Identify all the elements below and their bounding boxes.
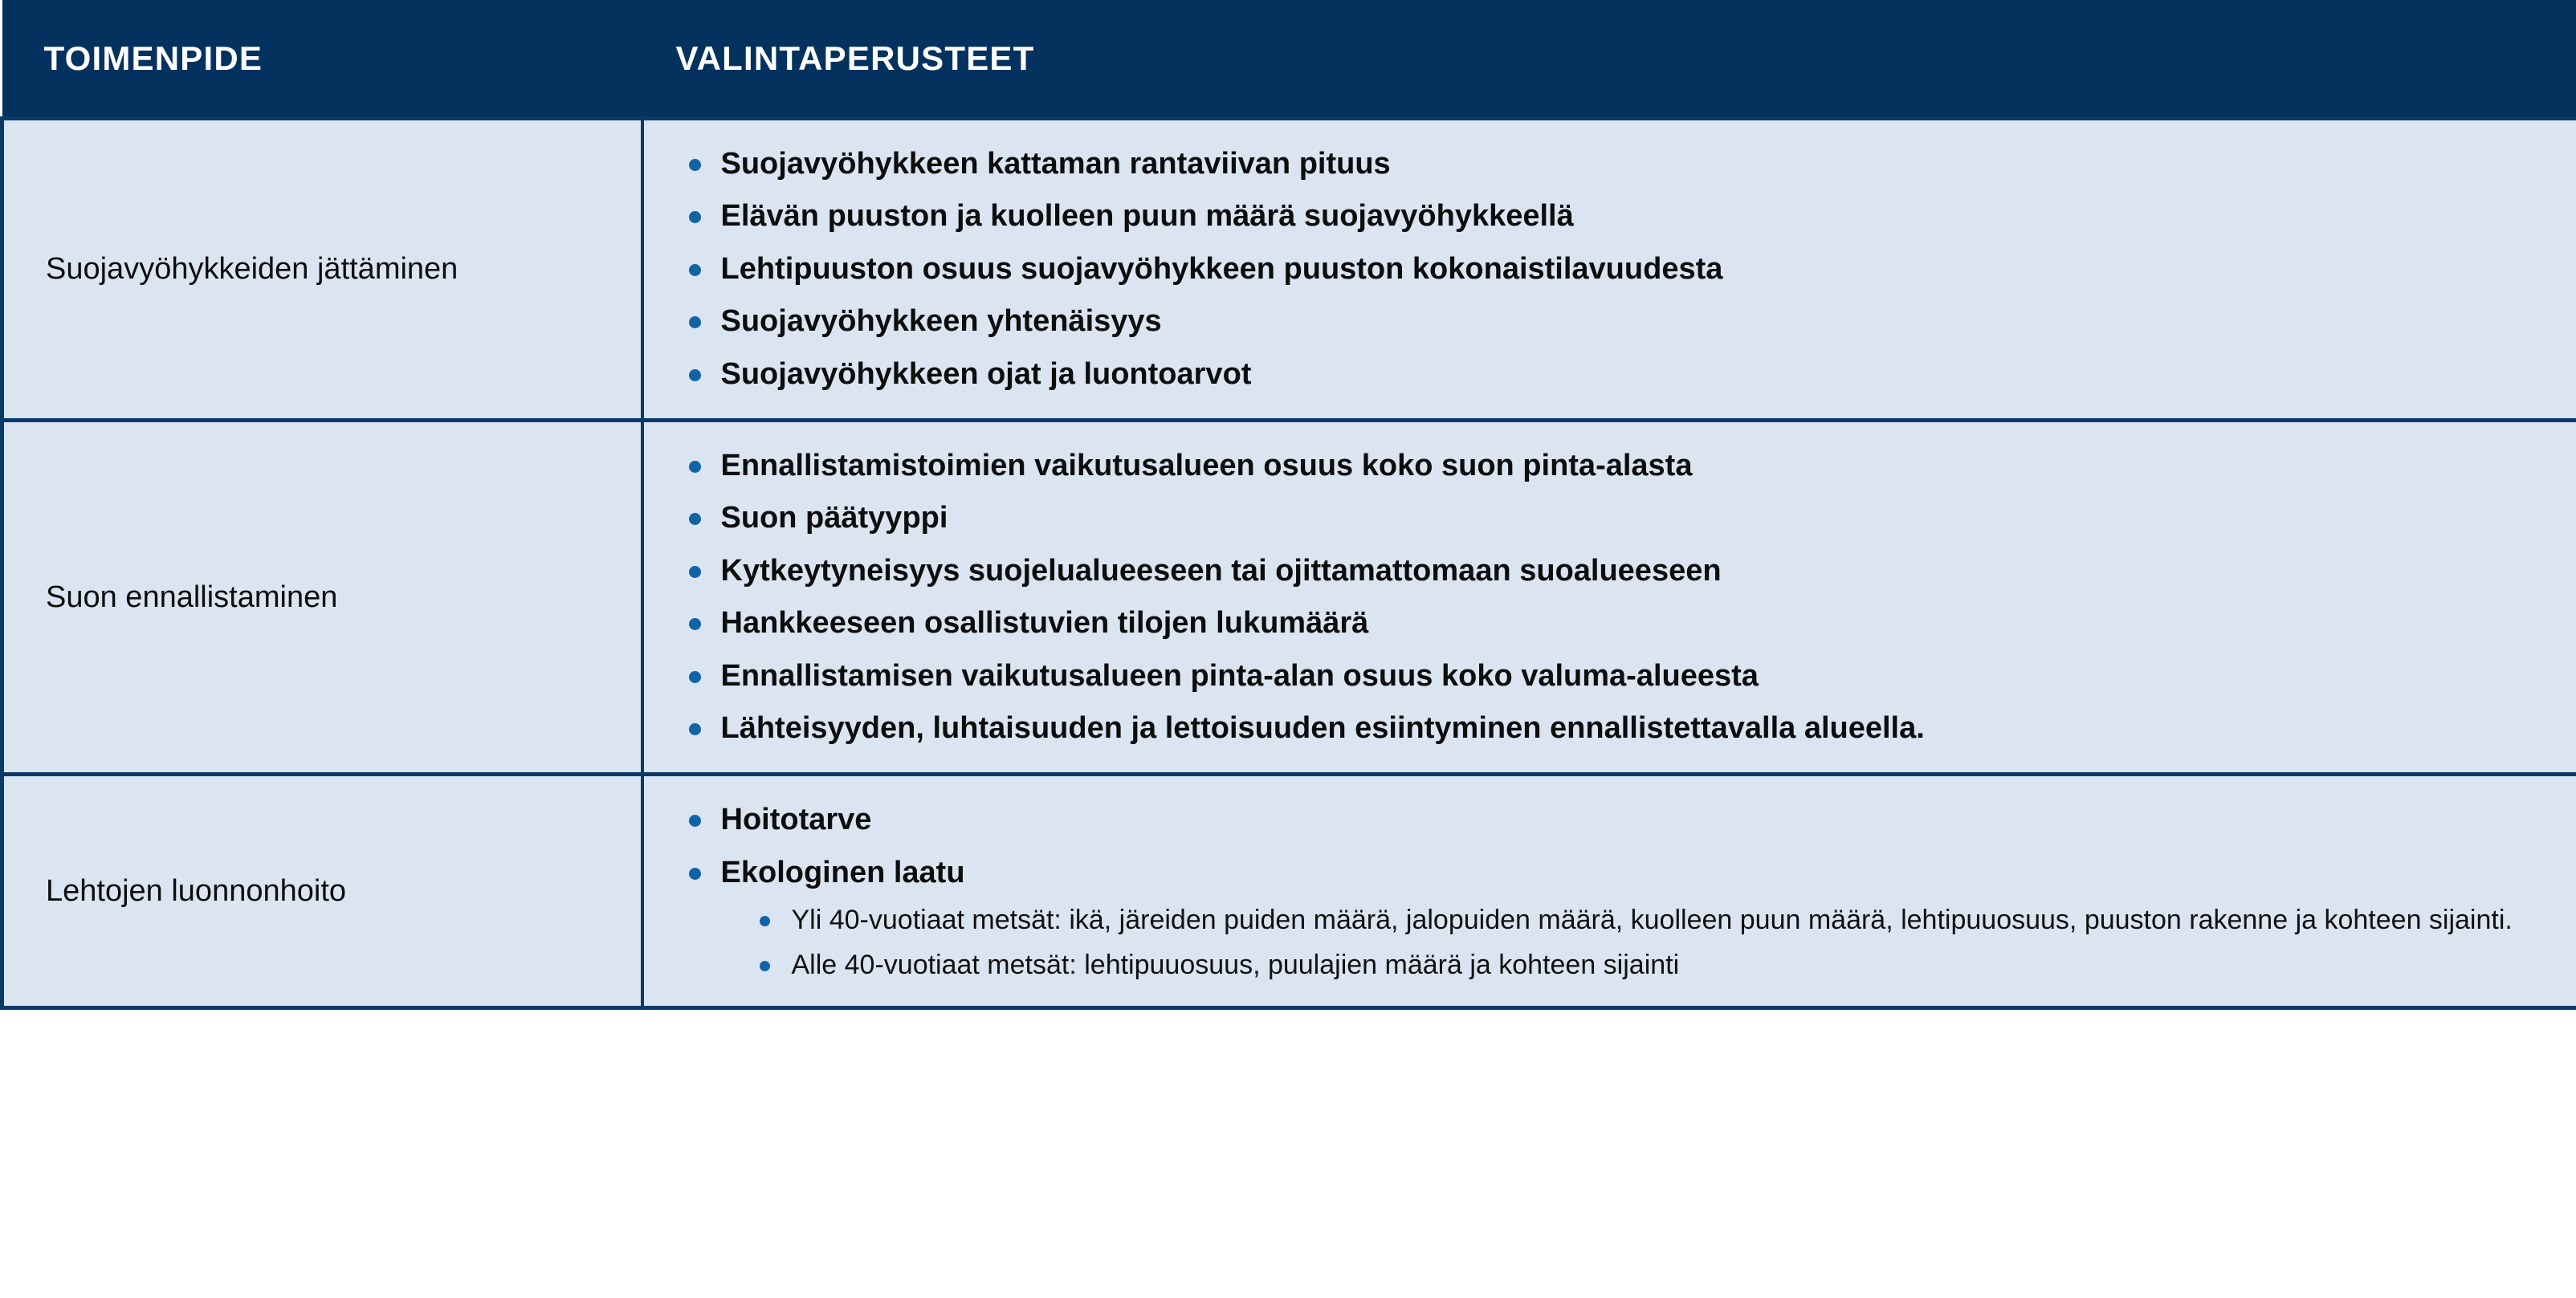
bullet-dot-icon xyxy=(689,723,701,735)
cell-action: Suojavyöhykkeiden jättäminen xyxy=(2,119,642,421)
bullet-dot-icon xyxy=(689,211,701,223)
criteria-bullet: Suojavyöhykkeen yhtenäisyys xyxy=(644,302,2576,341)
criteria-bullet-label: Hankkeeseen osallistuvien tilojen lukumä… xyxy=(721,606,1369,640)
cell-criteria: Ennallistamistoimien vaikutusalueen osuu… xyxy=(642,420,2576,774)
table-row: Lehtojen luonnonhoitoHoitotarveEkologine… xyxy=(2,775,2576,1008)
cell-action: Lehtojen luonnonhoito xyxy=(2,775,642,1008)
criteria-bullet: Suojavyöhykkeen ojat ja luontoarvot xyxy=(644,355,2576,394)
criteria-bullet: Ennallistamisen vaikutusalueen pinta-ala… xyxy=(644,657,2576,696)
action-label: Suon ennallistaminen xyxy=(46,580,337,614)
bullet-dot-icon xyxy=(689,815,701,827)
table-header: TOIMENPIDE VALINTAPERUSTEET xyxy=(2,0,2576,119)
bullet-dot-icon xyxy=(689,513,701,525)
bullet-dot-icon xyxy=(689,566,701,578)
criteria-bullet-label: Lähteisyyden, luhtaisuuden ja lettoisuud… xyxy=(721,711,1925,745)
criteria-bullet: Lähteisyyden, luhtaisuuden ja lettoisuud… xyxy=(644,709,2576,748)
criteria-subbullet-label: Alle 40-vuotiaat metsät: lehtipuuosuus, … xyxy=(792,950,1680,980)
table-row: Suon ennallistaminenEnnallistamistoimien… xyxy=(2,420,2576,774)
bullet-dot-icon xyxy=(689,461,701,473)
bullet-dot-icon xyxy=(689,618,701,630)
bullet-dot-icon xyxy=(689,264,701,276)
column-header-action: TOIMENPIDE xyxy=(2,0,642,119)
criteria-bullet-label: Ennallistamistoimien vaikutusalueen osuu… xyxy=(721,449,1693,482)
criteria-bullet: Lehtipuuston osuus suojavyöhykkeen puust… xyxy=(644,250,2576,289)
criteria-subbullet: Yli 40-vuotiaat metsät: ikä, järeiden pu… xyxy=(721,904,2576,937)
bullet-dot-icon xyxy=(760,916,770,926)
criteria-bullet: Kytkeytyneisyys suojelualueeseen tai oji… xyxy=(644,551,2576,591)
criteria-bullet-label: Suon päätyyppi xyxy=(721,501,948,535)
bullet-dot-icon xyxy=(760,961,770,971)
criteria-bullet-label: Elävän puuston ja kuolleen puun määrä su… xyxy=(721,199,1574,233)
criteria-list: Ennallistamistoimien vaikutusalueen osuu… xyxy=(644,446,2576,748)
criteria-bullet: Ennallistamistoimien vaikutusalueen osuu… xyxy=(644,446,2576,486)
bullet-dot-icon xyxy=(689,671,701,683)
action-label: Suojavyöhykkeiden jättäminen xyxy=(46,252,458,286)
criteria-subbullet-label: Yli 40-vuotiaat metsät: ikä, järeiden pu… xyxy=(792,905,2513,935)
cell-criteria: HoitotarveEkologinen laatuYli 40-vuotiaa… xyxy=(642,775,2576,1008)
criteria-sublist: Yli 40-vuotiaat metsät: ikä, järeiden pu… xyxy=(721,904,2576,982)
criteria-bullet-label: Suojavyöhykkeen yhtenäisyys xyxy=(721,304,1162,338)
criteria-bullet-label: Hoitotarve xyxy=(721,803,872,836)
criteria-table-container: TOIMENPIDE VALINTAPERUSTEET Suojavyöhykk… xyxy=(0,0,2576,1298)
criteria-subbullet: Alle 40-vuotiaat metsät: lehtipuuosuus, … xyxy=(721,949,2576,982)
table-header-row: TOIMENPIDE VALINTAPERUSTEET xyxy=(2,0,2576,119)
cell-action: Suon ennallistaminen xyxy=(2,420,642,774)
bullet-dot-icon xyxy=(689,868,701,880)
criteria-bullet-label: Lehtipuuston osuus suojavyöhykkeen puust… xyxy=(721,252,1723,286)
criteria-bullet-label: Ekologinen laatu xyxy=(721,856,965,889)
criteria-bullet-label: Suojavyöhykkeen ojat ja luontoarvot xyxy=(721,357,1252,391)
criteria-bullet-label: Suojavyöhykkeen kattaman rantaviivan pit… xyxy=(721,147,1391,181)
cell-criteria: Suojavyöhykkeen kattaman rantaviivan pit… xyxy=(642,119,2576,421)
bullet-dot-icon xyxy=(689,316,701,328)
criteria-bullet-label: Ennallistamisen vaikutusalueen pinta-ala… xyxy=(721,659,1759,693)
action-label: Lehtojen luonnonhoito xyxy=(46,874,346,908)
table-body: Suojavyöhykkeiden jättäminenSuojavyöhykk… xyxy=(2,119,2576,1008)
criteria-list: Suojavyöhykkeen kattaman rantaviivan pit… xyxy=(644,144,2576,394)
table-row: Suojavyöhykkeiden jättäminenSuojavyöhykk… xyxy=(2,119,2576,421)
criteria-table: TOIMENPIDE VALINTAPERUSTEET Suojavyöhykk… xyxy=(0,0,2576,1010)
criteria-bullet: Suojavyöhykkeen kattaman rantaviivan pit… xyxy=(644,144,2576,184)
criteria-list: HoitotarveEkologinen laatuYli 40-vuotiaa… xyxy=(644,800,2576,982)
criteria-bullet: Ekologinen laatuYli 40-vuotiaat metsät: … xyxy=(644,853,2576,982)
criteria-bullet-label: Kytkeytyneisyys suojelualueeseen tai oji… xyxy=(721,554,1722,588)
criteria-bullet: Hoitotarve xyxy=(644,800,2576,840)
column-header-criteria: VALINTAPERUSTEET xyxy=(642,0,2576,119)
bullet-dot-icon xyxy=(689,369,701,381)
criteria-bullet: Suon päätyyppi xyxy=(644,498,2576,538)
bullet-dot-icon xyxy=(689,159,701,171)
criteria-bullet: Hankkeeseen osallistuvien tilojen lukumä… xyxy=(644,604,2576,643)
criteria-bullet: Elävän puuston ja kuolleen puun määrä su… xyxy=(644,197,2576,236)
